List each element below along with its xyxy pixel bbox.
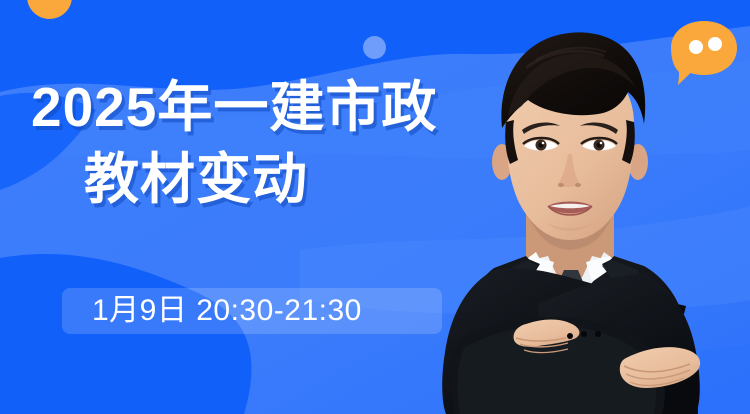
instructor-portrait — [398, 12, 750, 414]
promo-banner: 2025年一建市政 教材变动 1月9日 20:30-21:30 — [0, 0, 750, 414]
date-badge-background — [62, 288, 442, 334]
small-circle-decoration — [363, 36, 386, 59]
